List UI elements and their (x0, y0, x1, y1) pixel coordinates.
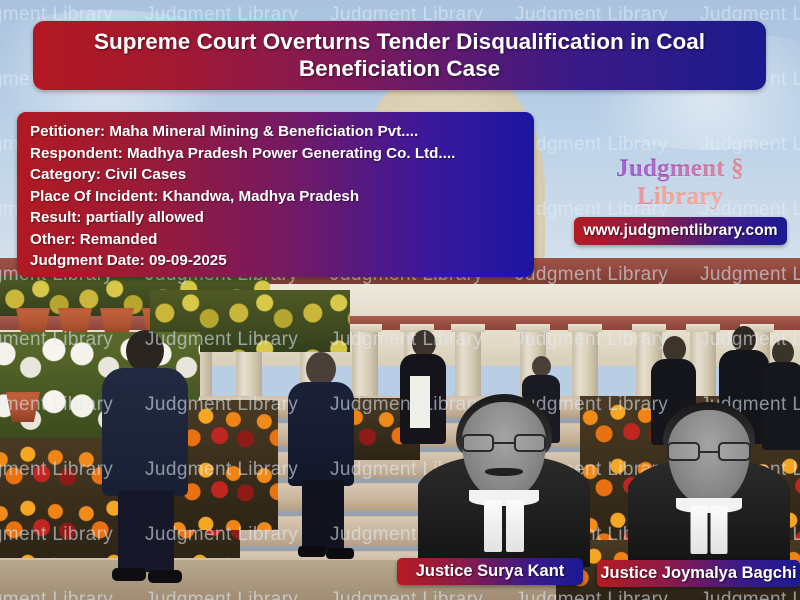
website-url-badge[interactable]: www.judgmentlibrary.com (574, 217, 787, 245)
eyeglasses-icon (662, 442, 756, 462)
info-row-judgment-date: Judgment Date: 09-09-2025 (30, 250, 534, 272)
eyeglasses-icon (456, 434, 552, 454)
judge-portrait-joymalya-bagchi (628, 386, 790, 566)
judge-name-text: Justice Joymalya Bagchi (600, 564, 796, 583)
judge-portrait-surya-kant (418, 382, 590, 567)
website-url-text: www.judgmentlibrary.com (583, 222, 777, 240)
person-figure (96, 330, 192, 578)
info-row-category: Category: Civil Cases (30, 164, 534, 186)
case-info-panel: Petitioner: Maha Mineral Mining & Benefi… (17, 112, 534, 277)
info-row-respondent: Respondent: Madhya Pradesh Power Generat… (30, 143, 534, 165)
judge-name-badge-1: Justice Surya Kant (397, 558, 583, 585)
judge-name-badge-2: Justice Joymalya Bagchi (597, 560, 800, 587)
person-figure (284, 352, 358, 564)
page-title: Supreme Court Overturns Tender Disqualif… (33, 29, 766, 82)
info-row-other: Other: Remanded (30, 229, 534, 251)
judge-name-text: Justice Surya Kant (416, 562, 565, 581)
brand-logo: Judgment § Library (572, 155, 788, 185)
info-row-result: Result: partially allowed (30, 207, 534, 229)
info-row-petitioner: Petitioner: Maha Mineral Mining & Benefi… (30, 121, 534, 143)
info-row-place-of-incident: Place Of Incident: Khandwa, Madhya Prade… (30, 186, 534, 208)
title-banner: Supreme Court Overturns Tender Disqualif… (33, 21, 766, 90)
